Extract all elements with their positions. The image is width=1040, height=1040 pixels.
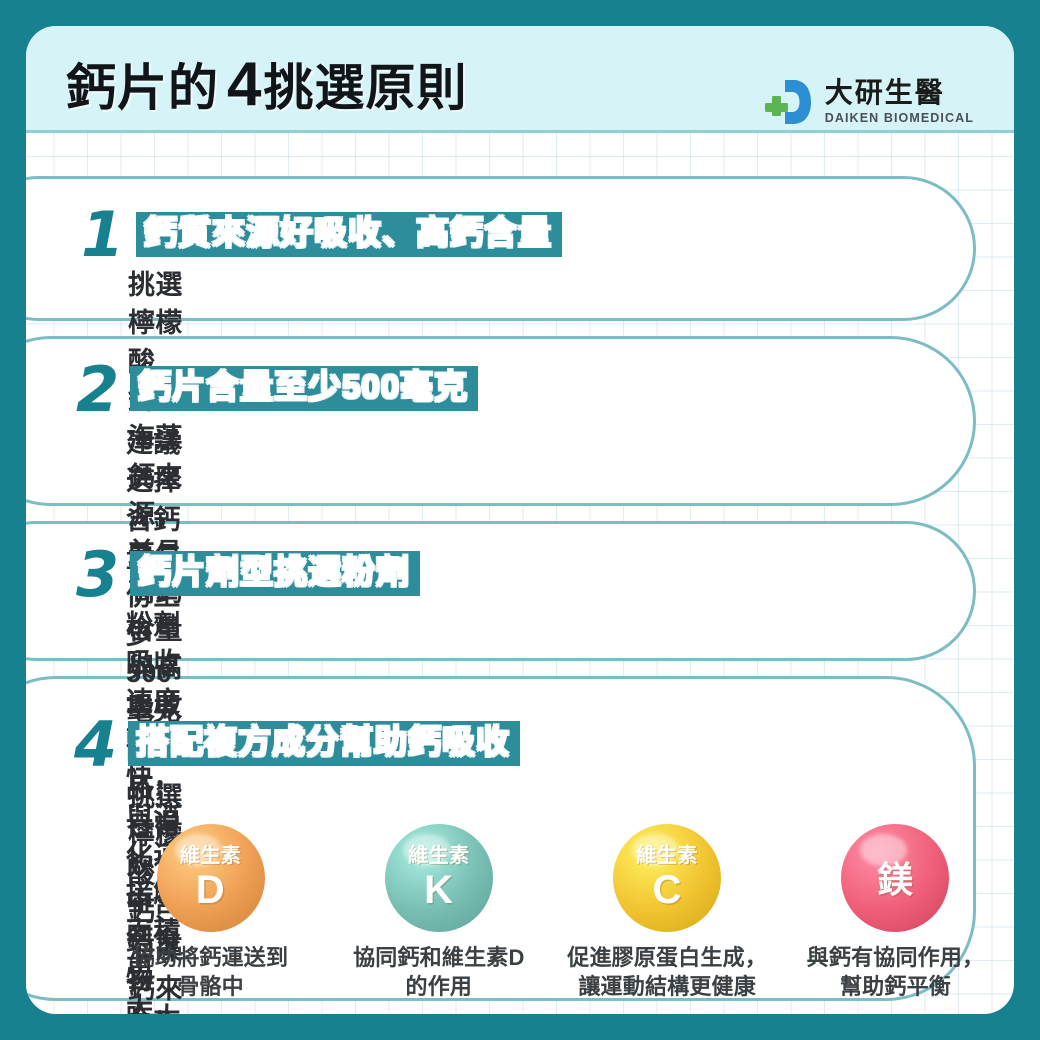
section-2-heading: 鈣片含量至少500毫克 [130, 366, 478, 411]
nutrient-caption: 促進膠原蛋白生成， 讓運動結構更健康 [565, 943, 770, 1002]
daiken-d-cross-logo-icon [761, 76, 813, 128]
nutrient-label: 鎂 [877, 862, 914, 898]
title-suffix: 挑選原則 [263, 60, 467, 116]
nutrient-ball-vitamin-k: 維生素 K [385, 824, 493, 932]
nutrient-ball-vitamin-d: 維生素 D [157, 824, 265, 932]
logo-name-cn: 大研生醫 [825, 79, 974, 107]
title-number: 4 [219, 50, 263, 119]
logo-text: 大研生醫 DAIKEN BIOMEDICAL [825, 79, 974, 125]
title-prefix: 鈣片的 [66, 60, 219, 116]
brand-logo: 大研生醫 DAIKEN BIOMEDICAL [761, 76, 974, 128]
nutrient-sublabel: 維生素 [180, 846, 242, 866]
nutrient-caption: 協助將鈣運送到 骨骼中 [108, 943, 313, 1002]
header-band: 鈣片的4挑選原則 大研生醫 DAIKEN BIOMEDICAL [26, 26, 1014, 133]
nutrient-label: C [652, 870, 681, 910]
logo-name-en: DAIKEN BIOMEDICAL [825, 112, 974, 125]
nutrient-label: D [196, 870, 225, 910]
section-2-number: 2 [76, 359, 119, 421]
nutrient-item-vitamin-d: 維生素 D 協助將鈣運送到 骨骼中 [108, 824, 313, 1002]
nutrient-sublabel: 維生素 [636, 846, 698, 866]
nutrient-item-magnesium: 鎂 與鈣有協同作用， 幫助鈣平衡 [793, 824, 998, 1002]
content-card: 鈣片的4挑選原則 大研生醫 DAIKEN BIOMEDICAL [26, 26, 1014, 1014]
nutrient-ball-magnesium: 鎂 [841, 824, 949, 932]
section-4-number: 4 [74, 714, 117, 776]
nutrient-sublabel: 維生素 [408, 846, 470, 866]
nutrient-item-vitamin-c: 維生素 C 促進膠原蛋白生成， 讓運動結構更健康 [565, 824, 770, 1002]
section-3-number: 3 [76, 544, 119, 606]
section-4-heading: 搭配複方成分幫助鈣吸收 [128, 721, 520, 766]
section-3-heading: 鈣片劑型挑選粉劑 [130, 551, 420, 596]
nutrient-caption: 與鈣有協同作用， 幫助鈣平衡 [793, 943, 998, 1002]
nutrient-item-vitamin-k: 維生素 K 協同鈣和維生素D 的作用 [336, 824, 541, 1002]
nutrient-label: K [424, 870, 453, 910]
section-1-heading: 鈣質來源好吸收、高鈣含量 [136, 212, 562, 257]
section-1-number: 1 [81, 204, 124, 266]
nutrient-caption: 協同鈣和維生素D 的作用 [336, 943, 541, 1002]
poster-root: 鈣片的4挑選原則 大研生醫 DAIKEN BIOMEDICAL [0, 0, 1040, 1040]
nutrient-ball-vitamin-c: 維生素 C [613, 824, 721, 932]
nutrient-list: 維生素 D 協助將鈣運送到 骨骼中 維生素 K 協同鈣和維生素D 的作用 維生素… [108, 824, 998, 1002]
page-title: 鈣片的4挑選原則 [66, 48, 467, 120]
